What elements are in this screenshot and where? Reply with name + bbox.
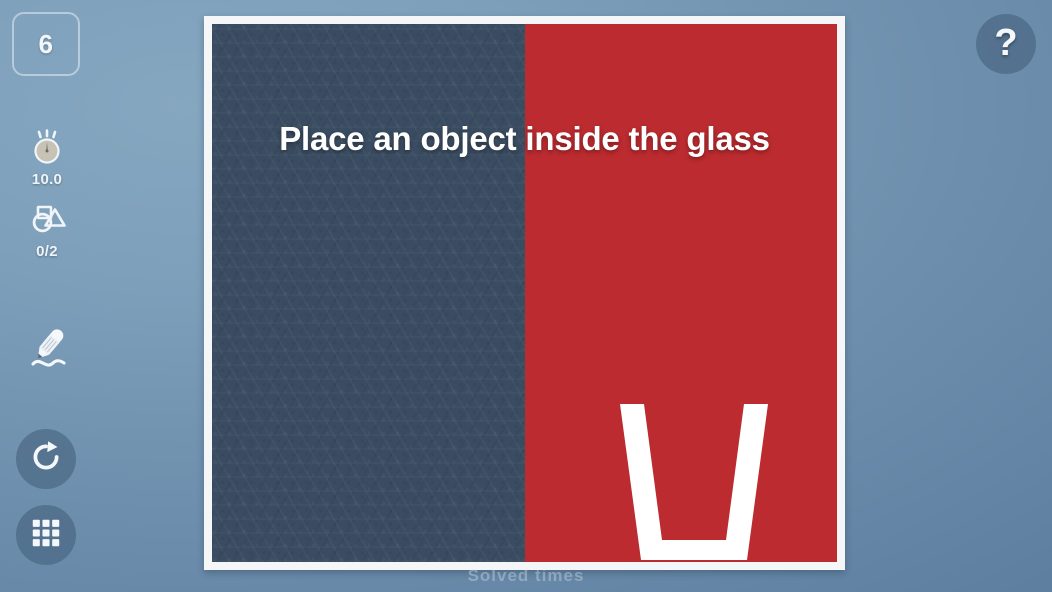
stopwatch-icon xyxy=(25,128,69,168)
grid-menu-icon xyxy=(31,518,61,553)
shapes-icon xyxy=(25,200,69,240)
glass-object xyxy=(614,404,774,562)
levels-button[interactable] xyxy=(16,505,76,565)
draw-tool-button[interactable] xyxy=(22,322,74,374)
zone-dark xyxy=(212,24,525,562)
help-button[interactable]: ? xyxy=(976,14,1036,74)
question-mark-icon: ? xyxy=(994,24,1017,62)
level-number: 6 xyxy=(39,29,54,60)
stat-timer: 10.0 xyxy=(0,128,94,188)
playfield-frame: Place an object inside the glass xyxy=(204,16,845,570)
hint-text: Place an object inside the glass xyxy=(212,120,837,158)
level-badge: 6 xyxy=(12,12,80,76)
stat-objects: 0/2 xyxy=(0,200,94,260)
refresh-icon xyxy=(29,440,63,479)
playfield[interactable]: Place an object inside the glass xyxy=(212,24,837,562)
solved-caption: Solved times xyxy=(0,566,1052,586)
restart-button[interactable] xyxy=(16,429,76,489)
timer-value: 10.0 xyxy=(32,171,62,188)
objects-value: 0/2 xyxy=(36,243,58,260)
sidebar: 6 10.0 xyxy=(0,0,94,592)
